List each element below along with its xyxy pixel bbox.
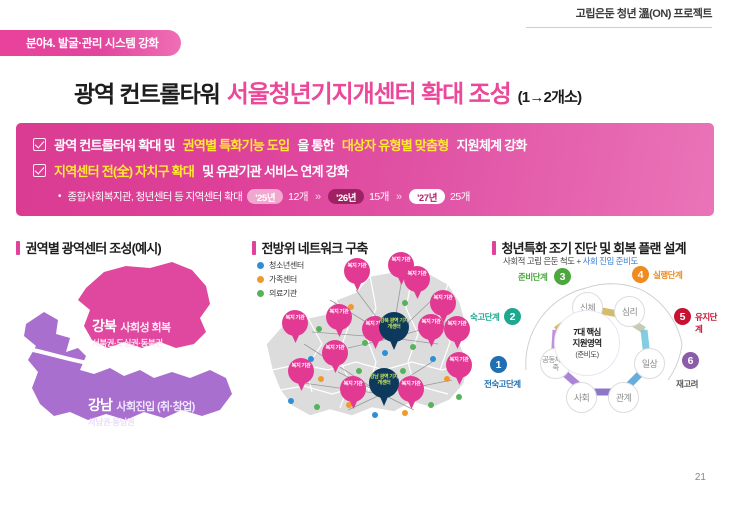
family-center-dot-icon [257, 276, 264, 283]
facility-dot [372, 412, 378, 418]
legend-item: 의료기관 [257, 288, 304, 299]
header-divider [526, 27, 712, 28]
facility-dot [402, 410, 408, 416]
pin-label: 복지 기관 [430, 295, 456, 301]
pin-label: 강북 광역 기지개센터 [379, 318, 409, 330]
hub-center-pin-gangbuk: 강북 광역 기지개센터 [379, 312, 409, 350]
gangnam-districts: 서남권·동남권 [88, 416, 195, 428]
bullet1-seg1: 광역 컨트롤타워 확대 및 [54, 135, 175, 154]
local-center-pin: 복지 기관 [446, 352, 472, 385]
summary-bullet-2: 지역센터 전(全) 자치구 확대 및 유관기관 서비스 연계 강화 [16, 159, 714, 182]
network-map-panel: 청소년센터 가족센터 의료기관 복지 기관 복지 기관 [252, 252, 480, 464]
pin-tip [426, 333, 437, 347]
region-label-gangbuk: 강북 사회성 회복 서북권·도심권·동북권 [92, 316, 170, 349]
legend-item: 가족센터 [257, 274, 304, 285]
summary-box: 광역 컨트롤타워 확대 및 권역별 특화기능 도입 을 통한 대상자 유형별 맞… [16, 123, 714, 216]
core-line-2: 지원영역 [573, 338, 602, 349]
pin-label: 복지 기관 [444, 321, 470, 327]
pin-tip [388, 334, 400, 350]
pin-label: 복지 기관 [282, 315, 308, 321]
pin-label: 복지 기관 [288, 363, 314, 369]
facility-dot [430, 356, 436, 362]
stage-3-number: 3 [554, 268, 571, 285]
local-center-pin: 복지 기관 [344, 258, 370, 291]
core-center-label: 7대 핵심 지원영역 (준비도) [554, 310, 620, 376]
pin-label: 복지 기관 [398, 381, 424, 387]
legend-label-family: 가족센터 [269, 274, 297, 285]
recovery-plan-panel: 1 전숙고단계 2 숙고단계 3 준비단계 4 실행단계 5 유지단계 6 재고… [492, 252, 724, 464]
local-center-pin: 복지 기관 [404, 266, 430, 299]
page-number: 21 [695, 472, 706, 483]
pin-label: 복지 기관 [340, 381, 366, 387]
region-label-gangnam: 강남 사회진입 (취·창업) 서남권·동남권 [88, 395, 195, 428]
pin-tip [334, 323, 345, 337]
local-center-pin: 복지 기관 [340, 376, 366, 409]
pin-label: 복지 기관 [322, 345, 348, 351]
local-center-pin: 복지 기관 [322, 340, 348, 373]
local-center-pin: 복지 기관 [326, 304, 352, 337]
facility-dot [402, 300, 408, 306]
facility-dot [288, 398, 294, 404]
bullet1-seg4: 대상자 유형별 맞춤형 [342, 135, 449, 154]
expansion-timeline: • 종합사회복지관, 청년센터 등 지역센터 확대 '25년 12개 » '26… [16, 189, 714, 204]
title-highlight: 서울청년기지개센터 확대 조성 [227, 74, 511, 109]
facility-dot [314, 404, 320, 410]
pin-tip [348, 395, 359, 409]
pin-tip [412, 285, 423, 299]
gangnam-focus: 사회진입 (취·창업) [116, 401, 194, 413]
facility-dot [356, 368, 362, 374]
pin-tip [330, 359, 341, 373]
checkbox-icon [33, 138, 46, 151]
count-2025: 12개 [288, 189, 308, 204]
core-line-3: (준비도) [575, 349, 598, 360]
checkbox-icon [33, 164, 46, 177]
gangbuk-focus: 사회성 회복 [120, 322, 170, 334]
medical-dot-icon [257, 290, 264, 297]
stage-1: 1 [490, 356, 507, 373]
pin-label: 복지 기관 [388, 257, 414, 263]
category-chip: 분야4. 발굴·관리 시스템 강화 [0, 30, 181, 56]
stage-2: 2 [504, 308, 521, 325]
pin-label: 복지 기관 [326, 309, 352, 315]
stage-4: 4 [632, 266, 649, 283]
page-title: 광역 컨트롤타워 서울청년기지개센터 확대 조성 (1→2개소) [74, 74, 714, 108]
pin-tip [296, 377, 307, 391]
facility-dot [456, 394, 462, 400]
facility-dot [428, 402, 434, 408]
bullet2-seg2: 및 유관기관 서비스 연계 강화 [202, 161, 348, 180]
pin-label: 복지 기관 [344, 263, 370, 269]
local-center-pin: 복지 기관 [282, 310, 308, 343]
stage-1-label: 전숙고단계 [484, 378, 521, 390]
gangnam-name: 강남 [88, 397, 112, 413]
pin-label: 강남 광역 기지개센터 [369, 374, 399, 386]
pin-tip [406, 395, 417, 409]
timeline-arrow: » [315, 191, 321, 203]
facility-dot [316, 326, 322, 332]
network-legend: 청소년센터 가족센터 의료기관 [257, 260, 304, 302]
pin-tip [378, 390, 390, 406]
gangbuk-districts: 서북권·도심권·동북권 [92, 337, 170, 349]
stage-4-number: 4 [632, 266, 649, 283]
pin-tip [454, 371, 465, 385]
count-2027: 25개 [450, 189, 470, 204]
core-area-daily: 일상 [634, 348, 665, 379]
timeline-arrow: » [396, 191, 402, 203]
core-line-1: 7대 핵심 [573, 327, 601, 338]
stage-2-number: 2 [504, 308, 521, 325]
bullet1-seg3: 을 통한 [297, 135, 334, 154]
facility-dot [382, 350, 388, 356]
title-prefix: 광역 컨트롤타워 [74, 75, 220, 109]
core-area-psych: 심리 [614, 296, 645, 327]
stage-3: 3 [554, 268, 571, 285]
bullet1-seg2: 권역별 특화기능 도입 [183, 135, 290, 154]
local-center-pin: 복지 기관 [444, 316, 470, 349]
gangbuk-name: 강북 [92, 318, 116, 334]
sub-bullet-text: 종합사회복지관, 청년센터 등 지역센터 확대 [68, 189, 243, 204]
year-badge-2027: '27년 [409, 189, 445, 204]
stage-3-label: 준비단계 [518, 271, 547, 283]
legend-item: 청소년센터 [257, 260, 304, 271]
pin-label: 복지 기관 [404, 271, 430, 277]
year-badge-2026: '26년 [328, 189, 364, 204]
stage-2-label: 숙고단계 [470, 311, 499, 323]
stage-6: 6 [682, 352, 699, 369]
youth-center-dot-icon [257, 262, 264, 269]
pin-tip [452, 335, 463, 349]
legend-label-medical: 의료기관 [269, 288, 297, 299]
stage-6-label: 재고려 [676, 378, 698, 390]
core-area-society: 사회 [566, 382, 597, 413]
summary-bullet-1: 광역 컨트롤타워 확대 및 권역별 특화기능 도입 을 통한 대상자 유형별 맞… [16, 133, 714, 156]
stage-5: 5 [674, 308, 691, 325]
local-center-pin: 복지 기관 [288, 358, 314, 391]
regional-center-map-panel: 강북 사회성 회복 서북권·도심권·동북권 강남 사회진입 (취·창업) 서남권… [14, 252, 242, 462]
pin-label: 복지 기관 [446, 357, 472, 363]
bullet1-seg5: 지원체계 강화 [456, 135, 526, 154]
pin-tip [290, 329, 301, 343]
count-2026: 15개 [369, 189, 389, 204]
stage-5-label: 유지단계 [695, 311, 724, 335]
stage-6-number: 6 [682, 352, 699, 369]
pin-tip [352, 277, 363, 291]
pin-label: 복지 기관 [418, 319, 444, 325]
legend-label-youth: 청소년센터 [269, 260, 304, 271]
local-center-pin: 복지 기관 [398, 376, 424, 409]
year-badge-2025: '25년 [247, 189, 283, 204]
hub-center-pin-gangnam: 강남 광역 기지개센터 [369, 368, 399, 406]
bullet2-seg1: 지역센터 전(全) 자치구 확대 [54, 161, 194, 180]
stage-1-number: 1 [490, 356, 507, 373]
sub-bullet-marker: • [58, 191, 62, 202]
stage-4-label: 실행단계 [653, 269, 682, 281]
title-suffix: (1→2개소) [518, 86, 582, 107]
stage-5-number: 5 [674, 308, 691, 325]
facility-dot [400, 368, 406, 374]
facility-dot [318, 376, 324, 382]
core-area-relation: 관계 [608, 382, 639, 413]
slide-header: 분야4. 발굴·관리 시스템 강화 [0, 30, 730, 56]
facility-dot [410, 344, 416, 350]
project-label: 고립은둔 청년 溫(ON) 프로젝트 [576, 5, 712, 21]
local-center-pin: 복지 기관 [418, 314, 444, 347]
